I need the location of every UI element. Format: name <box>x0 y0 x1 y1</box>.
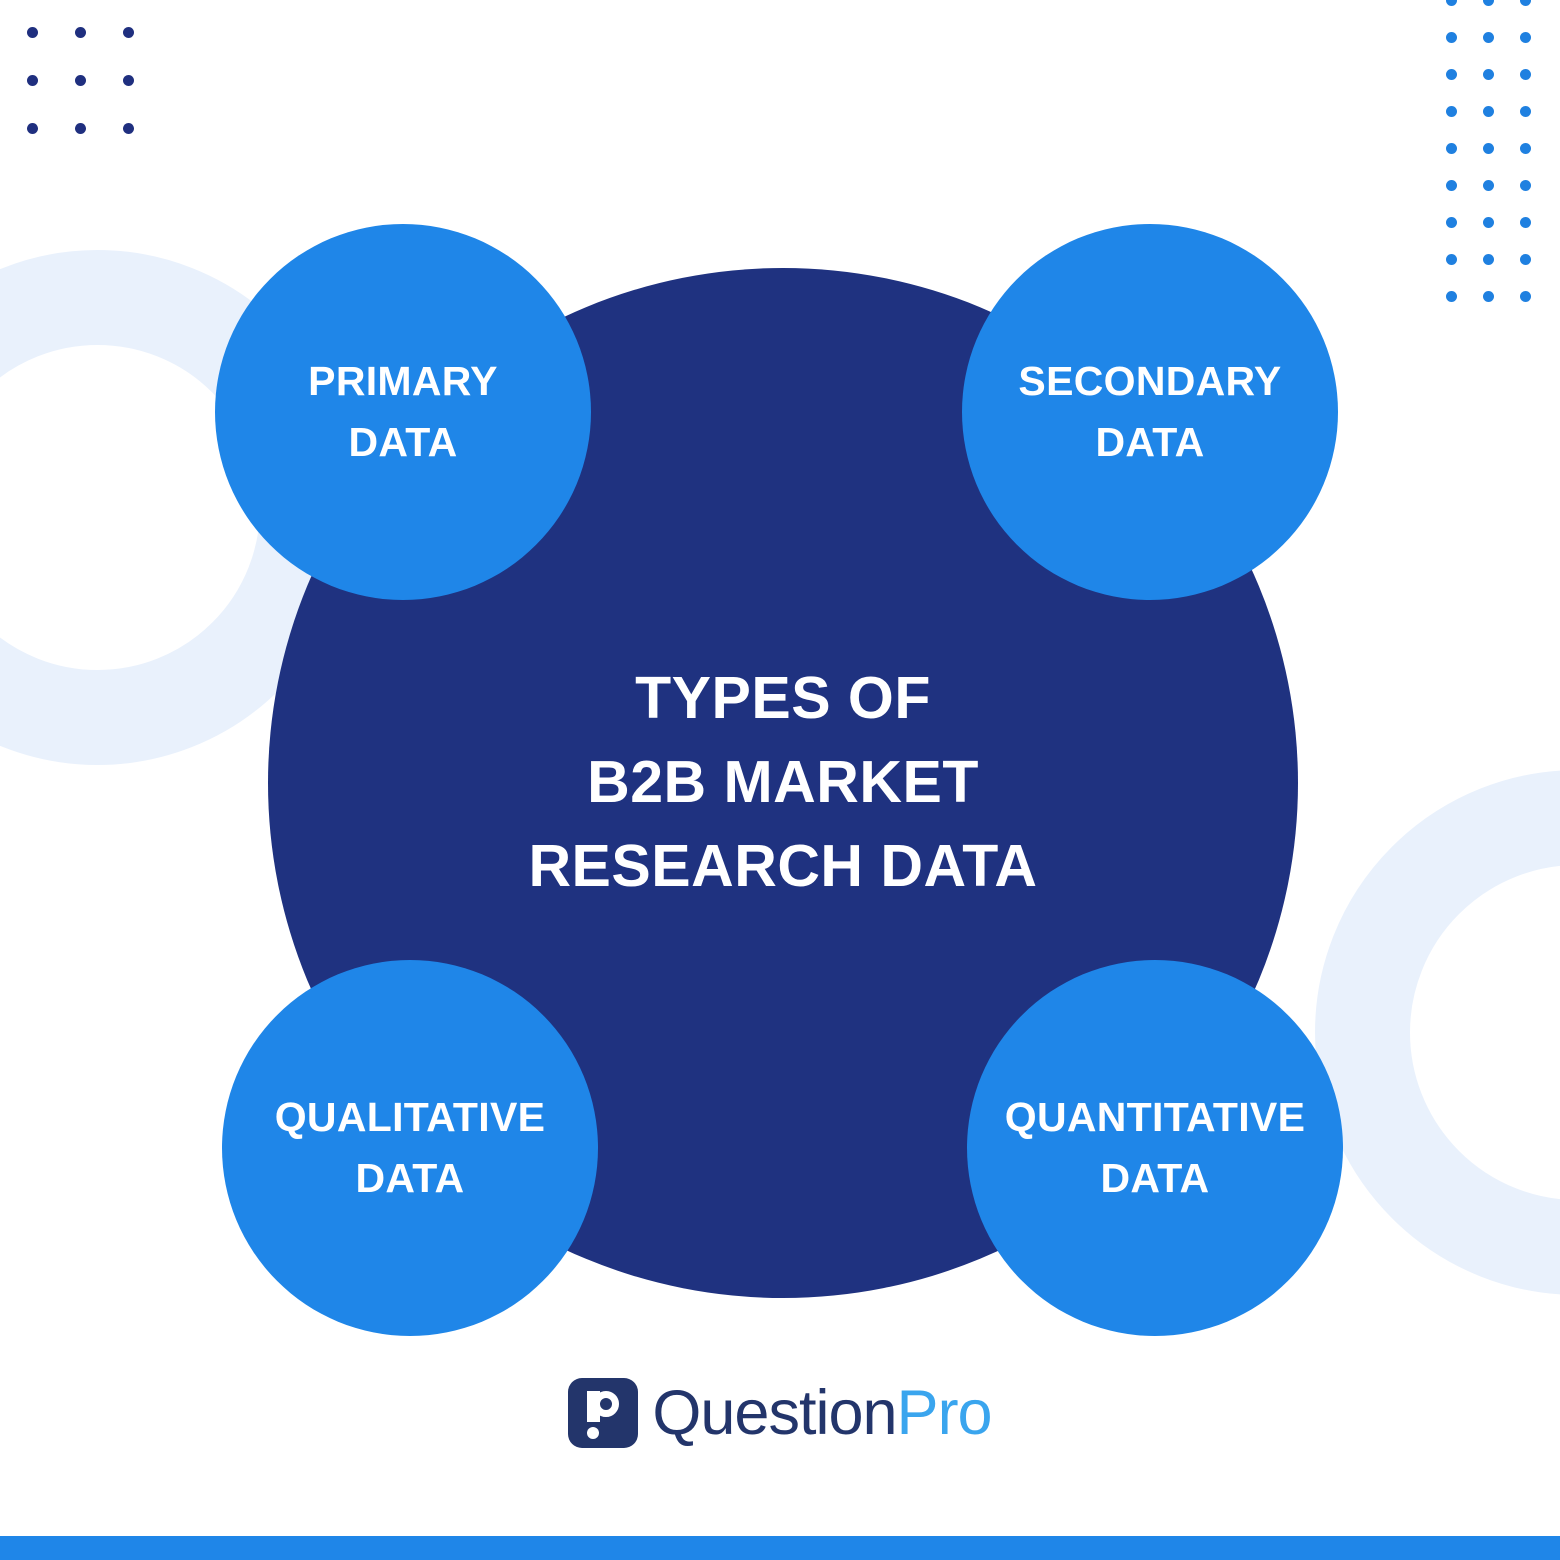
decorative-dot <box>27 75 38 86</box>
node-primary-data-label: PRIMARY DATA <box>294 351 512 472</box>
decorative-dot <box>1446 180 1457 191</box>
decorative-dot <box>75 123 86 134</box>
dot-grid-top-left <box>27 27 171 171</box>
node-primary-data[interactable]: PRIMARY DATA <box>215 224 591 600</box>
node-qualitative-data-label: QUALITATIVE DATA <box>261 1087 560 1208</box>
node-qualitative-data[interactable]: QUALITATIVE DATA <box>222 960 598 1336</box>
decorative-dot <box>1483 180 1494 191</box>
decorative-dot <box>123 123 134 134</box>
decorative-dot <box>1520 291 1531 302</box>
questionpro-wordmark: QuestionPro <box>652 1382 991 1445</box>
diagram-title: TYPES OF B2B MARKET RESEARCH DATA <box>528 657 1037 908</box>
infographic-canvas: TYPES OF B2B MARKET RESEARCH DATA PRIMAR… <box>0 0 1560 1560</box>
decorative-dot <box>75 27 86 38</box>
decorative-dot <box>1446 254 1457 265</box>
questionpro-logo: QuestionPro <box>0 1378 1560 1448</box>
decorative-dot <box>1520 0 1531 6</box>
decorative-dot <box>1520 180 1531 191</box>
decorative-dot <box>1483 143 1494 154</box>
decorative-dot <box>1446 217 1457 228</box>
decorative-dot <box>27 27 38 38</box>
decorative-dot <box>27 123 38 134</box>
decorative-dot <box>123 27 134 38</box>
decorative-dot <box>1446 106 1457 117</box>
decorative-dot <box>123 75 134 86</box>
node-quantitative-data[interactable]: QUANTITATIVE DATA <box>967 960 1343 1336</box>
p-question-dot-shape <box>587 1427 599 1439</box>
decorative-dot <box>1520 143 1531 154</box>
decorative-dot <box>1483 32 1494 43</box>
dot-grid-top-right <box>1446 0 1557 328</box>
p-stem-shape <box>587 1391 600 1422</box>
decorative-dot <box>1483 106 1494 117</box>
decorative-dot <box>1483 254 1494 265</box>
decorative-dot <box>1446 0 1457 6</box>
decorative-dot <box>1483 217 1494 228</box>
decorative-dot <box>1520 106 1531 117</box>
logo-word-pro: Pro <box>897 1378 992 1448</box>
decorative-dot <box>1520 254 1531 265</box>
bottom-accent-bar <box>0 1536 1560 1560</box>
decorative-dot <box>1446 69 1457 80</box>
decorative-dot <box>1446 291 1457 302</box>
decorative-ring-right <box>1315 770 1560 1295</box>
decorative-dot <box>1483 291 1494 302</box>
node-secondary-data[interactable]: SECONDARY DATA <box>962 224 1338 600</box>
decorative-dot <box>1520 69 1531 80</box>
decorative-dot <box>75 75 86 86</box>
node-quantitative-data-label: QUANTITATIVE DATA <box>991 1087 1319 1208</box>
decorative-dot <box>1483 69 1494 80</box>
decorative-dot <box>1446 32 1457 43</box>
logo-word-question: Question <box>652 1378 896 1448</box>
decorative-dot <box>1520 217 1531 228</box>
decorative-dot <box>1520 32 1531 43</box>
decorative-dot <box>1483 0 1494 6</box>
questionpro-p-mark-icon <box>568 1378 638 1448</box>
node-secondary-data-label: SECONDARY DATA <box>1004 351 1295 472</box>
decorative-dot <box>1446 143 1457 154</box>
